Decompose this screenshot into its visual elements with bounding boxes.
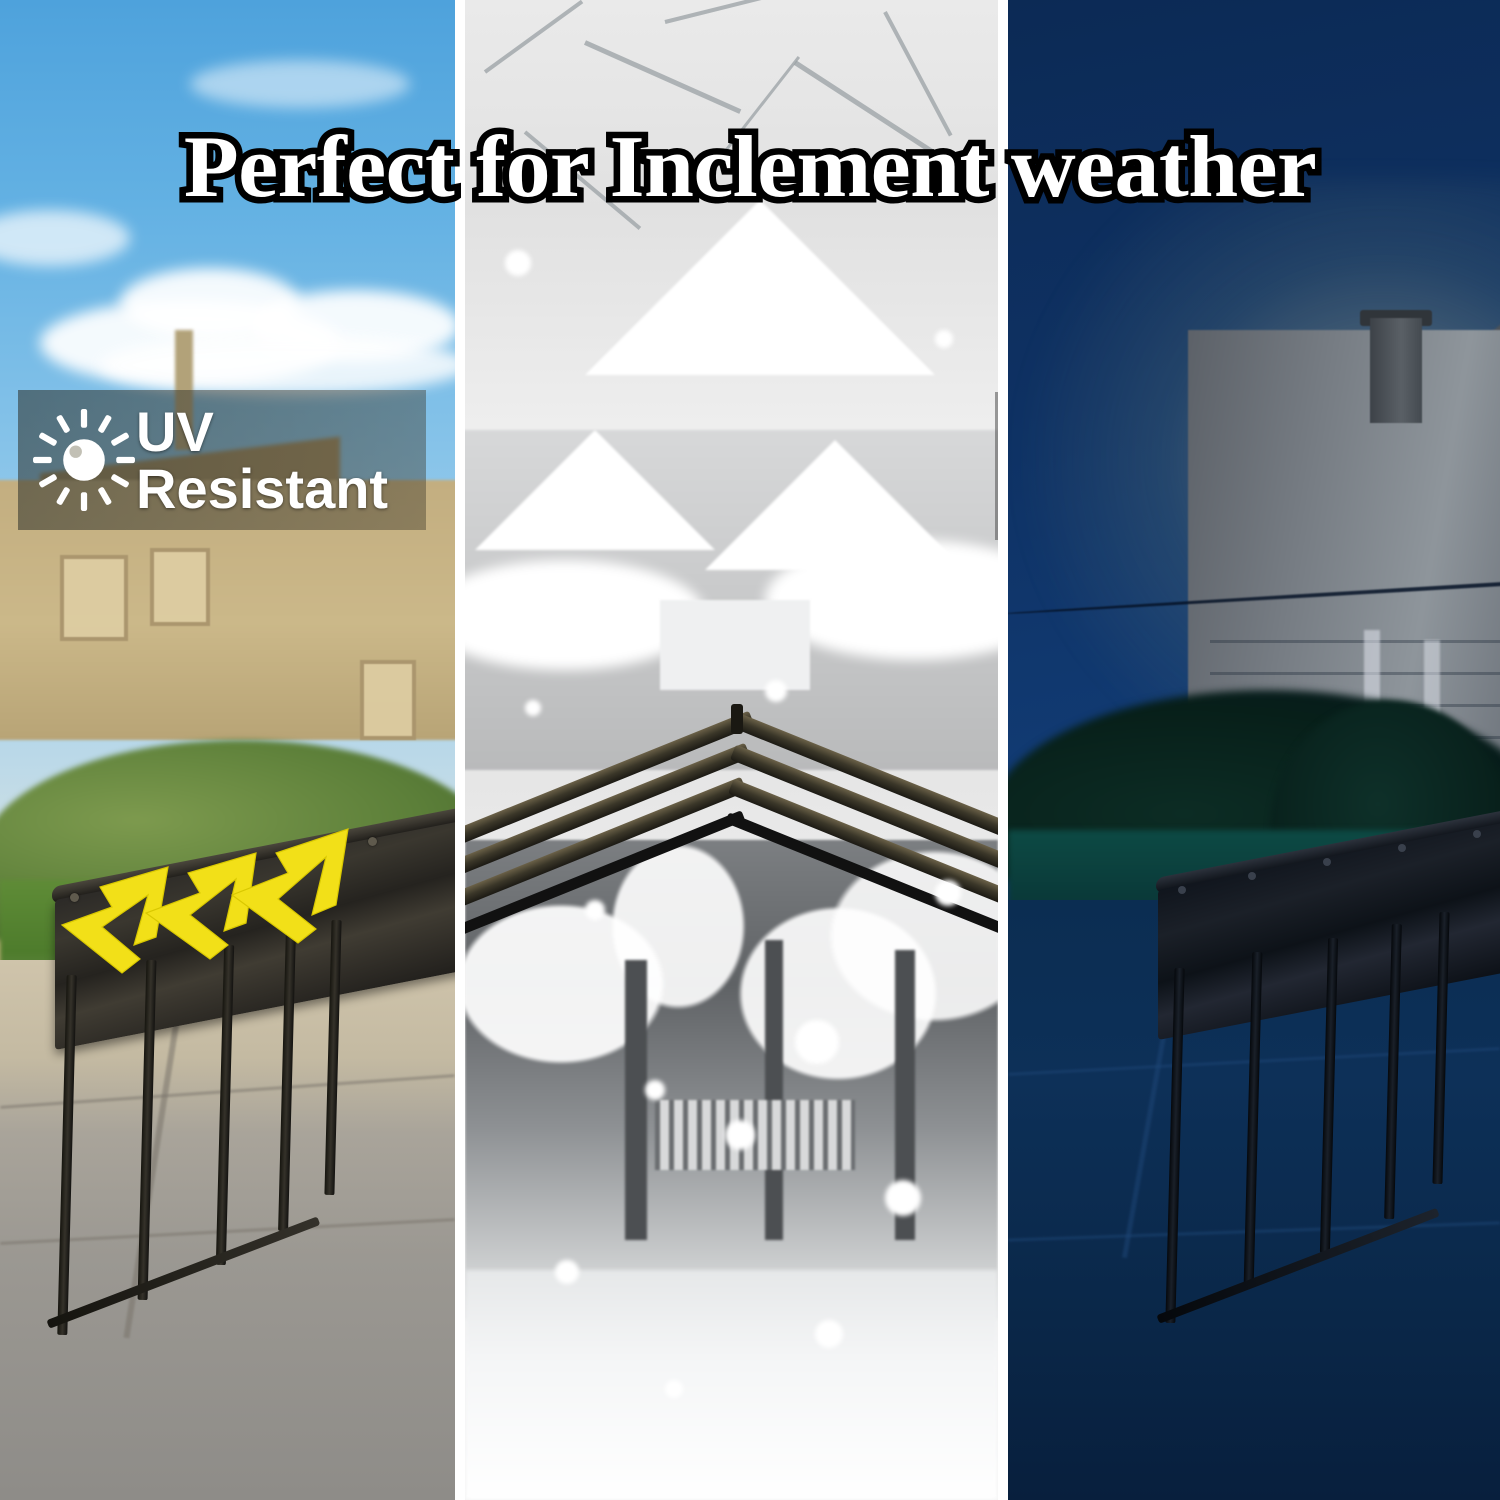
badge-snow-rating: 35 PSF Snow Rating	[995, 392, 998, 540]
uv-reflection-arrows	[60, 745, 430, 995]
badge-uv-resistant: UV Resistant	[18, 390, 426, 530]
carport-structure-snow	[465, 700, 998, 1030]
snowflake-particle	[885, 1180, 921, 1216]
roof-bolt	[1473, 830, 1481, 838]
panel-wind-rating: 100 MPH Wind Rating	[1008, 0, 1500, 1500]
badge-label-uv: UV Resistant	[136, 403, 416, 517]
roof-bolt	[1248, 872, 1256, 880]
snowflake-particle	[765, 680, 787, 702]
carport-base-rail	[46, 1216, 320, 1328]
panel-divider-left	[455, 0, 465, 1500]
snowflake-particle	[795, 1020, 839, 1064]
cloud-shape	[190, 60, 410, 108]
snowflake-particle	[865, 180, 885, 200]
snowflake-particle	[665, 1380, 683, 1398]
panel-snow-rating: 35 PSF Snow Rating	[465, 0, 998, 1500]
snowflake-particle	[725, 1120, 755, 1150]
panel-uv-resistant: UV Resistant	[0, 0, 455, 1500]
ridge-cap	[731, 704, 743, 734]
house-window	[360, 660, 416, 740]
carport-base-rail	[1156, 1208, 1439, 1324]
deep-snow-foreground	[465, 1270, 998, 1500]
snowflake-particle	[555, 1260, 579, 1284]
carport-structure-wind	[1148, 860, 1500, 1420]
snow-roof-gable	[475, 430, 715, 550]
siding-line	[1210, 640, 1500, 643]
snowflake-particle	[935, 880, 961, 906]
porch-railing	[655, 1100, 855, 1170]
promo-image: UV Resistant	[0, 0, 1500, 1500]
snowflake-particle	[625, 520, 649, 544]
carport-roof-tier	[732, 713, 998, 848]
panel-divider-right	[998, 0, 1008, 1500]
badge-text-block: UV Resistant	[136, 403, 416, 517]
snowflake-particle	[505, 250, 531, 276]
snowflake-particle	[645, 1080, 665, 1100]
snowflake-particle	[585, 900, 605, 920]
chimney	[1370, 318, 1422, 423]
snowflake-particle	[525, 700, 541, 716]
house-window	[150, 548, 210, 626]
siding-line	[1210, 672, 1500, 675]
house-window	[60, 555, 128, 641]
house-window-snow	[660, 600, 810, 690]
roof-bolt	[1398, 844, 1406, 852]
snow-roof-gable	[585, 200, 935, 375]
snowflake-particle	[935, 330, 953, 348]
sun-icon	[32, 408, 136, 512]
roof-bolt	[1178, 886, 1186, 894]
cloud-shape	[100, 335, 455, 395]
snowflake-particle	[815, 1320, 843, 1348]
roof-bolt	[1323, 858, 1331, 866]
